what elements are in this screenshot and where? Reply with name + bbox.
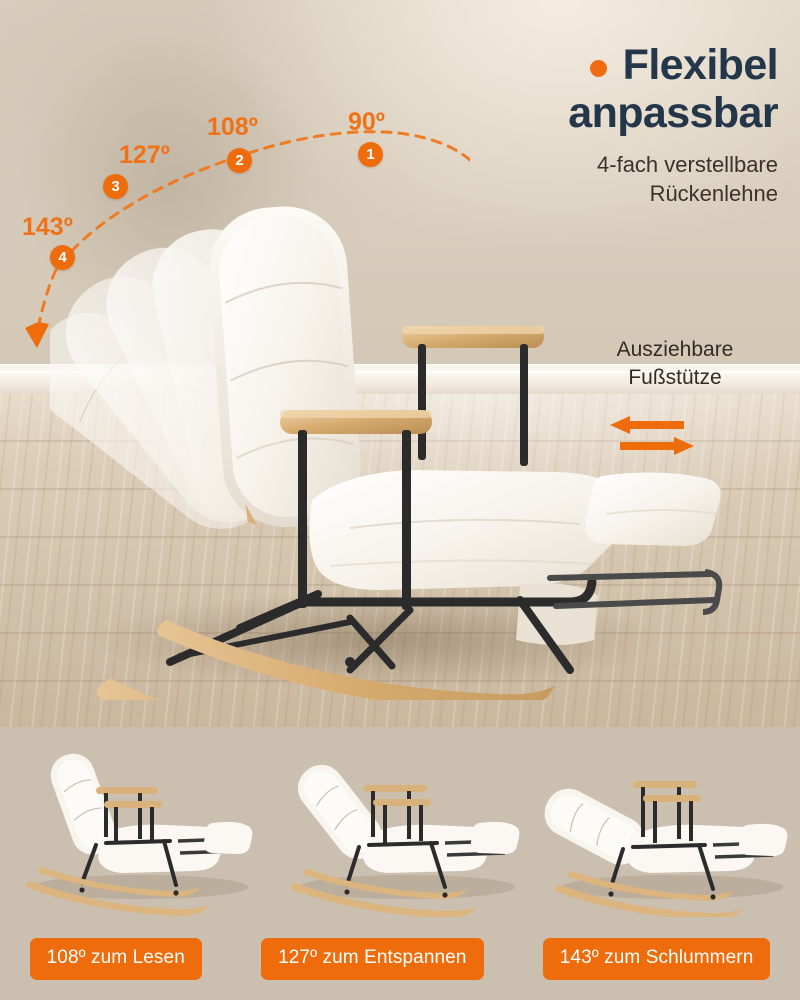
chair-seat bbox=[309, 470, 629, 590]
variant-thumbnail-1[interactable] bbox=[0, 727, 267, 917]
headline-line-1: Flexibel bbox=[623, 44, 778, 88]
chair-pose-108 bbox=[0, 727, 266, 917]
angle-label-4: 143º bbox=[22, 213, 73, 242]
arrow-right-icon bbox=[620, 437, 694, 455]
variant-captions: 108º zum Lesen 127º zum Entspannen 143º … bbox=[0, 917, 800, 1000]
angle-badge-3[interactable]: 3 bbox=[103, 174, 128, 199]
variant-caption-2: 127º zum Entspannen bbox=[261, 938, 483, 980]
footrest-direction-arrows bbox=[606, 414, 698, 460]
chair-pose-127 bbox=[267, 727, 533, 917]
headline-line-1-row: Flexibel bbox=[308, 44, 778, 88]
variant-caption-1: 108º zum Lesen bbox=[30, 938, 202, 980]
headline-block: Flexibel anpassbar 4-fach verstellbare R… bbox=[308, 44, 778, 208]
variant-caption-3: 143º zum Schlummern bbox=[543, 938, 771, 980]
angle-badge-2[interactable]: 2 bbox=[227, 148, 252, 173]
arrow-left-icon bbox=[610, 416, 684, 434]
bullet-dot-icon bbox=[590, 60, 607, 77]
angle-label-3: 127º bbox=[119, 141, 170, 170]
variant-thumbnail-3[interactable] bbox=[533, 727, 800, 917]
variant-thumbnail-2[interactable] bbox=[267, 727, 534, 917]
headline-line-2: anpassbar bbox=[308, 90, 778, 136]
variant-thumbnails bbox=[0, 727, 800, 917]
footrest-caption: Ausziehbare Fußstütze bbox=[560, 336, 790, 392]
headline-subtext: 4-fach verstellbare Rückenlehne bbox=[308, 150, 778, 208]
product-feature-image: 90º 1 108º 2 127º 3 143º 4 Flexibel anpa… bbox=[0, 0, 800, 1000]
variant-strip: 108º zum Lesen 127º zum Entspannen 143º … bbox=[0, 727, 800, 1000]
hero-scene: 90º 1 108º 2 127º 3 143º 4 Flexibel anpa… bbox=[0, 0, 800, 727]
angle-badge-4[interactable]: 4 bbox=[50, 245, 75, 270]
angle-label-2: 108º bbox=[207, 113, 258, 142]
chair-pose-143 bbox=[533, 727, 799, 917]
